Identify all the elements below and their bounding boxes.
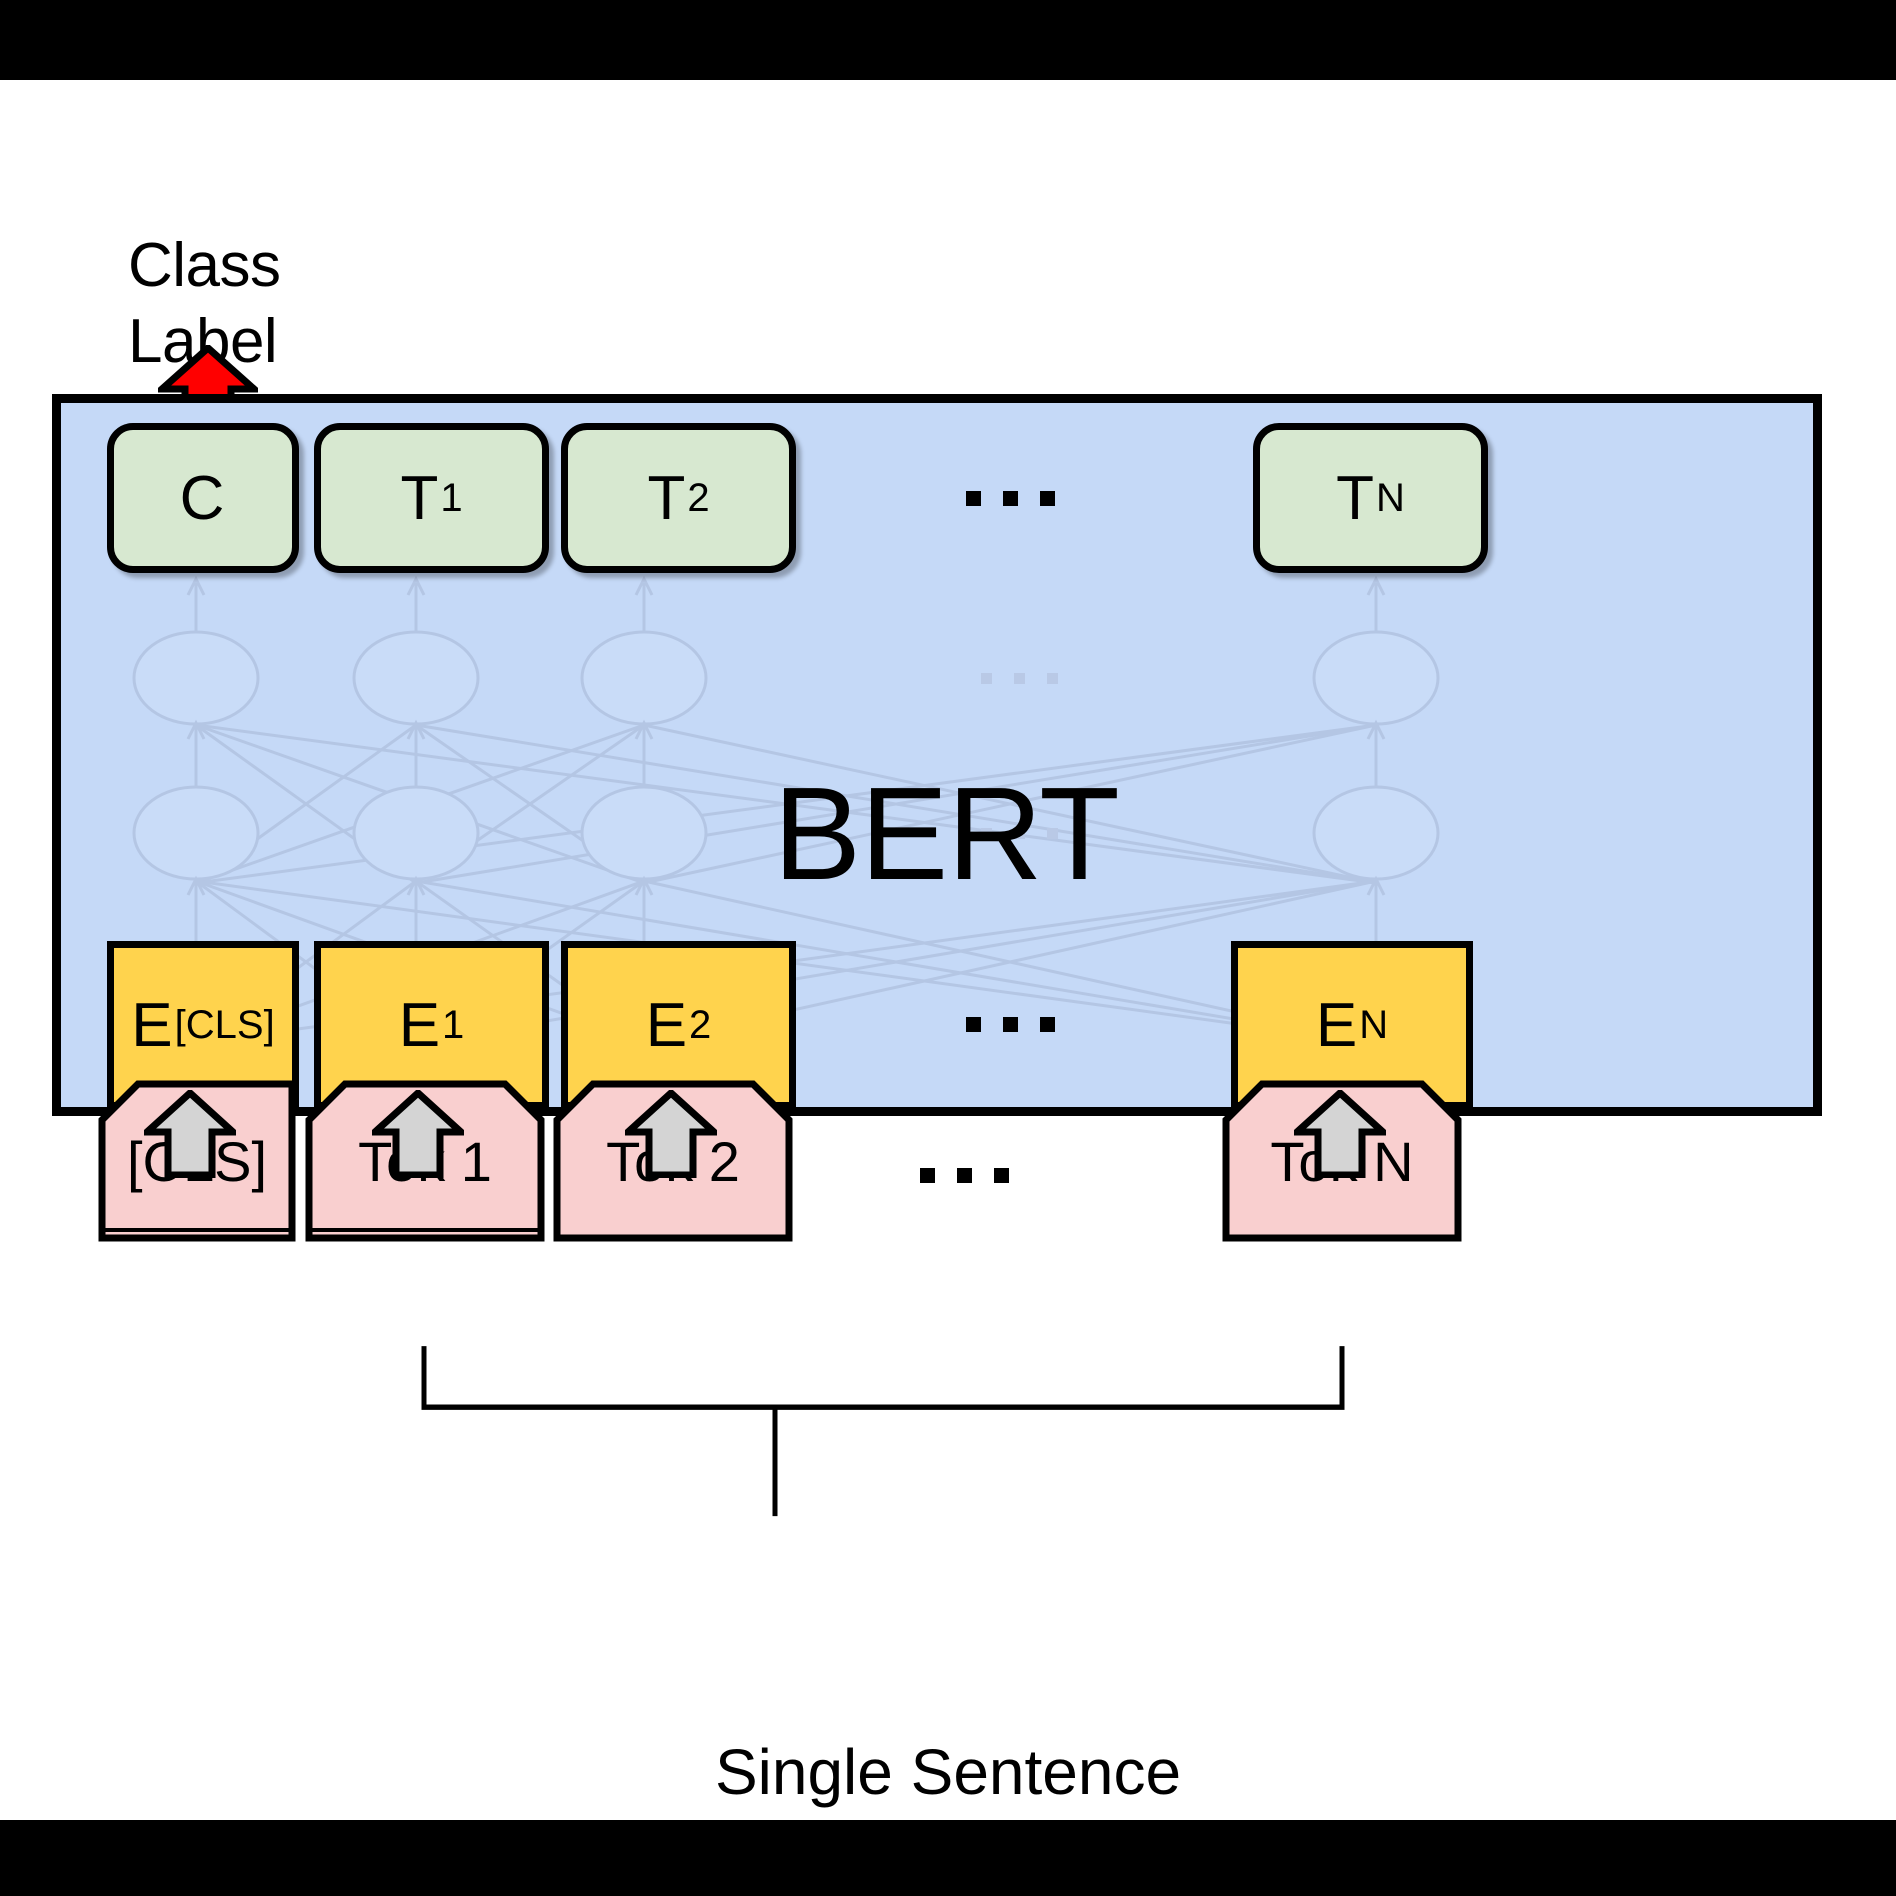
embedding-n-base: E bbox=[1316, 990, 1357, 1061]
input-row-ellipsis bbox=[920, 1168, 1009, 1183]
input-arrow-2-icon bbox=[625, 1090, 717, 1178]
single-sentence-caption: Single Sentence bbox=[0, 1735, 1896, 1809]
embedding-2-sub: 2 bbox=[689, 1003, 711, 1048]
output-token-1-sub: 1 bbox=[440, 476, 462, 521]
output-token-2: T2 bbox=[561, 423, 796, 573]
output-token-n-sub: N bbox=[1376, 476, 1405, 521]
output-token-2-base: T bbox=[647, 463, 685, 534]
output-token-cls-base: C bbox=[180, 463, 225, 534]
output-token-cls: C bbox=[107, 423, 299, 573]
network-layer2-ellipsis bbox=[981, 673, 1058, 684]
output-token-1-base: T bbox=[400, 463, 438, 534]
input-arrow-1-icon bbox=[372, 1090, 464, 1178]
input-arrow-n-icon bbox=[1294, 1090, 1386, 1178]
embedding-1-base: E bbox=[399, 990, 440, 1061]
embedding-2-base: E bbox=[646, 990, 687, 1061]
input-arrow-cls-icon bbox=[144, 1090, 236, 1178]
embedding-row-ellipsis bbox=[966, 1017, 1055, 1032]
embedding-1-sub: 1 bbox=[442, 1003, 464, 1048]
output-token-n: TN bbox=[1253, 423, 1488, 573]
diagram-page: Class Label bbox=[0, 80, 1896, 1820]
embedding-cls-sub: [CLS] bbox=[175, 1003, 275, 1048]
embedding-cls-base: E bbox=[131, 990, 172, 1061]
network-layer1-ellipsis bbox=[981, 828, 1058, 839]
bert-encoder-panel: BERT C T1 T2 TN bbox=[52, 394, 1822, 1116]
embedding-n-sub: N bbox=[1359, 1003, 1388, 1048]
output-token-2-sub: 2 bbox=[687, 476, 709, 521]
diagram-canvas: Class Label bbox=[0, 0, 1896, 1896]
output-token-1: T1 bbox=[314, 423, 549, 573]
output-row-ellipsis bbox=[966, 491, 1055, 506]
output-token-n-base: T bbox=[1336, 463, 1374, 534]
